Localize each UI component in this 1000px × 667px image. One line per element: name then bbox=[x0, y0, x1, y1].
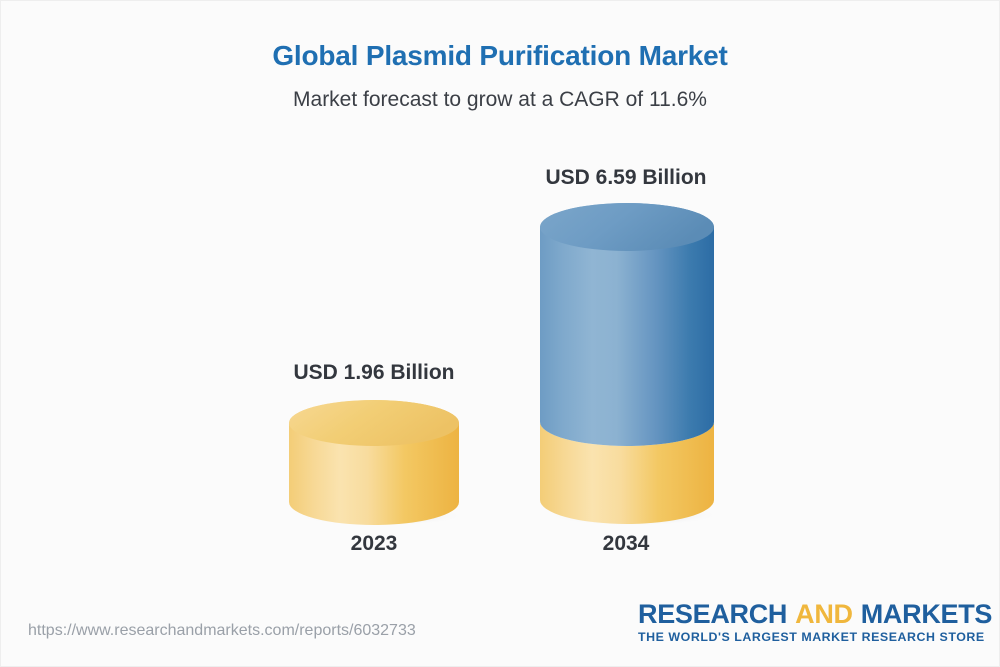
chart-canvas: Global Plasmid Purification Market Marke… bbox=[0, 0, 1000, 667]
source-url[interactable]: https://www.researchandmarkets.com/repor… bbox=[28, 622, 416, 640]
brand-logo-research: RESEARCH bbox=[638, 599, 787, 629]
brand-logo: RESEARCHANDMARKETS THE WORLD'S LARGEST M… bbox=[638, 600, 978, 644]
brand-logo-markets: MARKETS bbox=[861, 599, 992, 629]
plot-area: Global Plasmid Purification Market Marke… bbox=[0, 0, 1000, 667]
category-label-2023: 2023 bbox=[238, 532, 510, 556]
brand-logo-and: AND bbox=[795, 599, 853, 629]
value-label-2023: USD 1.96 Billion bbox=[238, 361, 510, 385]
chart-title: Global Plasmid Purification Market bbox=[0, 40, 1000, 72]
bar-cylinder-2023 bbox=[289, 399, 459, 529]
brand-logo-tagline: THE WORLD'S LARGEST MARKET RESEARCH STOR… bbox=[638, 630, 978, 644]
brand-logo-wordmark: RESEARCHANDMARKETS bbox=[638, 600, 978, 628]
bar-cylinder-2034 bbox=[540, 203, 714, 529]
category-label-2034: 2034 bbox=[490, 532, 762, 556]
chart-subtitle: Market forecast to grow at a CAGR of 11.… bbox=[0, 88, 1000, 112]
value-label-2034: USD 6.59 Billion bbox=[490, 166, 762, 190]
